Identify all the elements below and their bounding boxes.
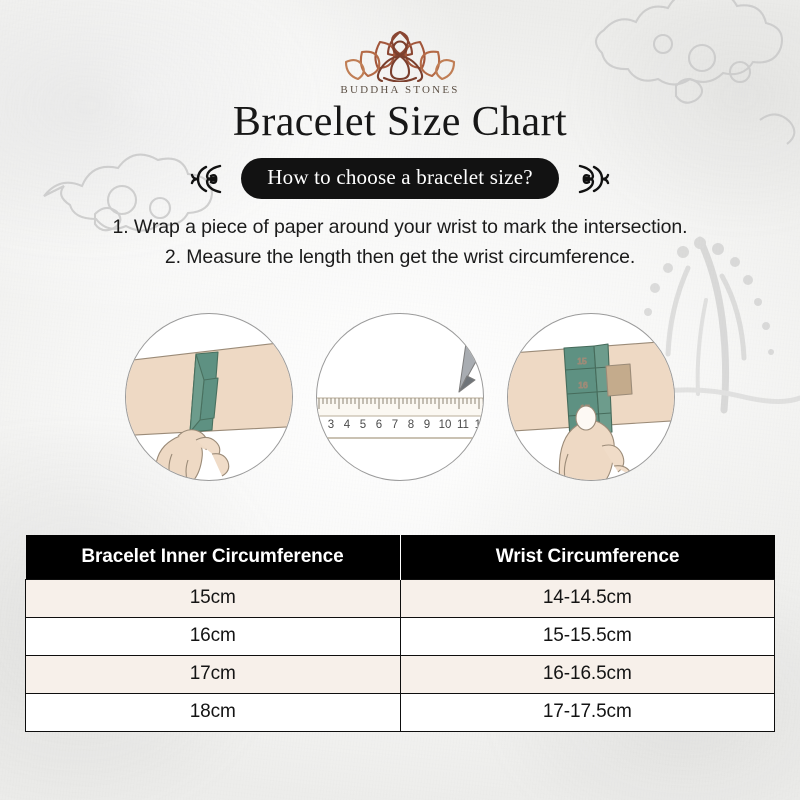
svg-text:10: 10 xyxy=(439,419,452,431)
illustration-circles: 345 678 91011 12 xyxy=(0,313,800,481)
column-header-wrist: Wrist Circumference xyxy=(400,535,775,579)
svg-text:8: 8 xyxy=(408,419,414,431)
column-header-bracelet: Bracelet Inner Circumference xyxy=(26,535,401,579)
svg-text:7: 7 xyxy=(392,419,398,431)
question-banner: How to choose a bracelet size? xyxy=(0,158,800,199)
svg-text:4: 4 xyxy=(344,419,351,431)
svg-text:16: 16 xyxy=(578,380,588,390)
cell-wrist-circumference: 14-14.5cm xyxy=(400,579,775,617)
cell-bracelet-circumference: 18cm xyxy=(26,693,401,731)
svg-text:15: 15 xyxy=(577,356,587,366)
flourish-left-icon xyxy=(190,162,232,196)
cell-wrist-circumference: 15-15.5cm xyxy=(400,617,775,655)
question-pill: How to choose a bracelet size? xyxy=(241,158,558,199)
cell-wrist-circumference: 17-17.5cm xyxy=(400,693,775,731)
size-chart-table: Bracelet Inner Circumference Wrist Circu… xyxy=(25,535,775,732)
page-title: Bracelet Size Chart xyxy=(0,98,800,146)
table-row: 18cm 17-17.5cm xyxy=(26,693,775,731)
svg-text:6: 6 xyxy=(376,419,382,431)
svg-text:9: 9 xyxy=(424,419,430,431)
table-row: 16cm 15-15.5cm xyxy=(26,617,775,655)
cell-bracelet-circumference: 15cm xyxy=(26,579,401,617)
size-chart-page: BUDDHA STONES Bracelet Size Chart How to… xyxy=(0,0,800,800)
instruction-step-2: 2. Measure the length then get the wrist… xyxy=(0,242,800,272)
tape-measure-illustration-icon: 15 16 17 xyxy=(508,314,675,481)
illustration-wrap-paper-around-wrist xyxy=(125,313,293,481)
table-header-row: Bracelet Inner Circumference Wrist Circu… xyxy=(26,535,775,579)
cell-bracelet-circumference: 16cm xyxy=(26,617,401,655)
instruction-step-1: 1. Wrap a piece of paper around your wri… xyxy=(0,212,800,242)
cell-bracelet-circumference: 17cm xyxy=(26,655,401,693)
instructions-block: 1. Wrap a piece of paper around your wri… xyxy=(0,212,800,272)
svg-text:3: 3 xyxy=(328,419,334,431)
brand-name: BUDDHA STONES xyxy=(340,84,459,96)
svg-text:11: 11 xyxy=(457,419,469,431)
table-row: 17cm 16-16.5cm xyxy=(26,655,775,693)
cell-wrist-circumference: 16-16.5cm xyxy=(400,655,775,693)
flourish-right-icon xyxy=(568,162,610,196)
table-row: 15cm 14-14.5cm xyxy=(26,579,775,617)
brand-logo-block: BUDDHA STONES xyxy=(0,20,800,96)
svg-text:5: 5 xyxy=(360,419,366,431)
lotus-meditation-logo-icon xyxy=(330,20,470,82)
svg-text:12: 12 xyxy=(475,419,484,431)
ruler-pencil-illustration-icon: 345 678 91011 12 xyxy=(317,314,484,481)
wrap-paper-illustration-icon xyxy=(126,314,293,481)
illustration-measure-with-ruler: 345 678 91011 12 xyxy=(316,313,484,481)
illustration-read-tape-measure: 15 16 17 xyxy=(507,313,675,481)
